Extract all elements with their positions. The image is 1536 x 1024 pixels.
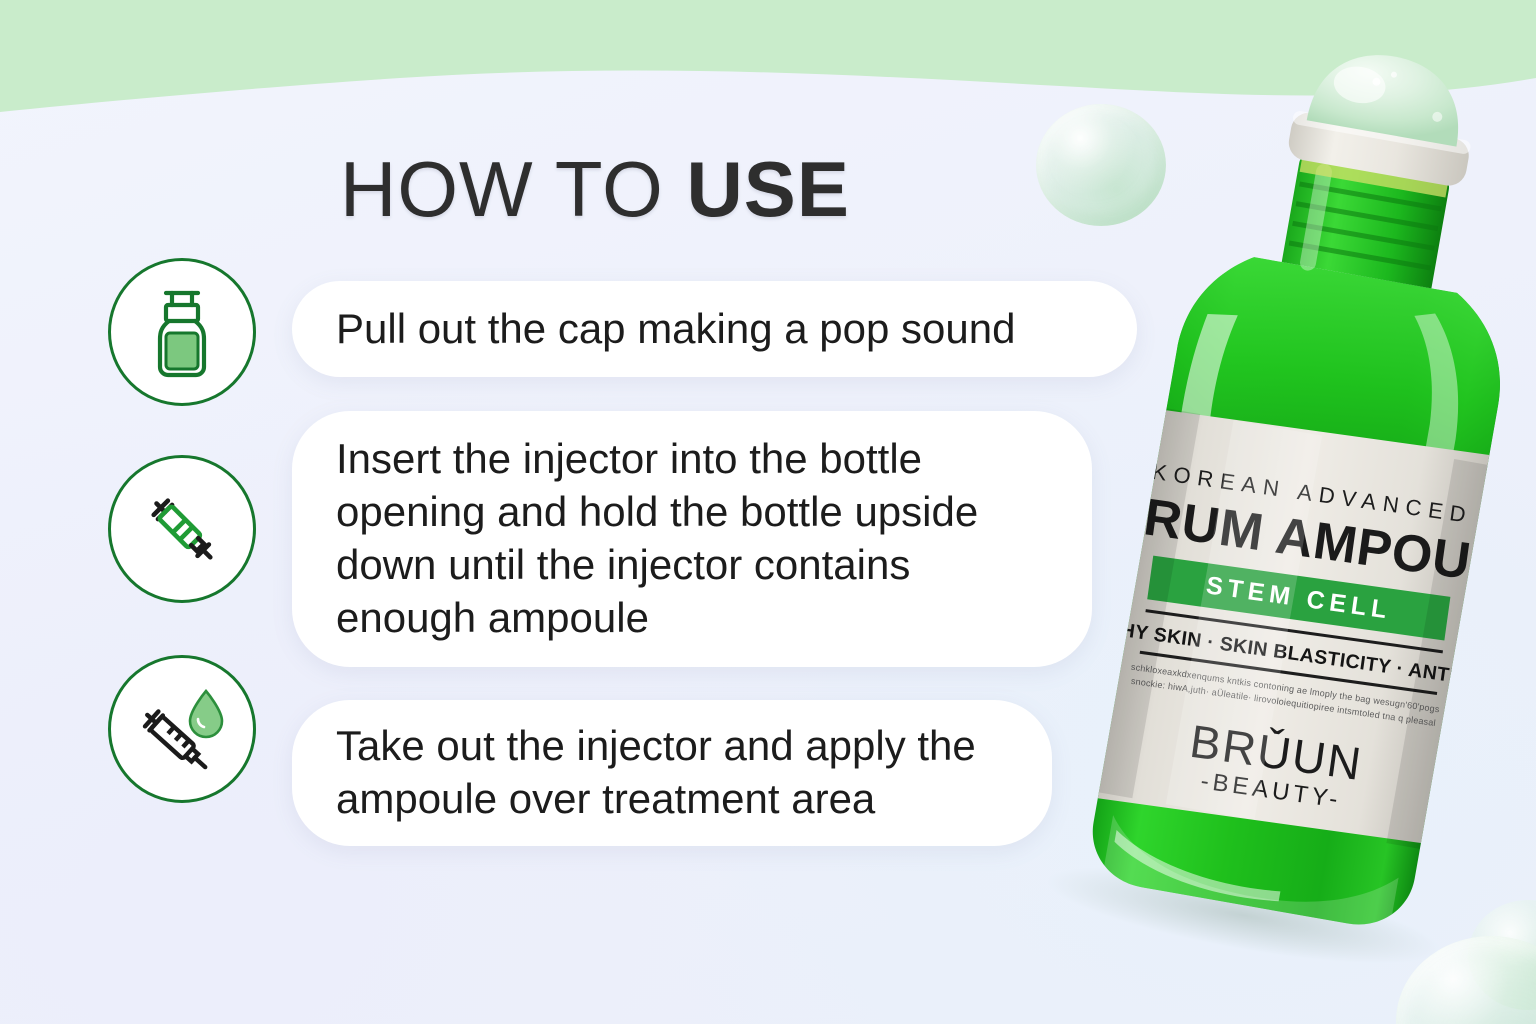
step-3-card: Take out the injector and apply the ampo… <box>292 700 1052 846</box>
syringe-icon <box>132 479 232 579</box>
step-1-text: Pull out the cap making a pop sound <box>292 303 1059 355</box>
infographic-canvas: HOW TO USE <box>0 0 1536 1024</box>
bottle-cap-icon <box>136 283 228 381</box>
step-2-text: Insert the injector into the bottle open… <box>292 433 1092 645</box>
step-3-icon-circle <box>108 655 256 803</box>
page-title: HOW TO USE <box>340 152 850 226</box>
step-1-icon-circle <box>108 258 256 406</box>
step-1-card: Pull out the cap making a pop sound <box>292 281 1137 377</box>
syringe-droplet-icon <box>128 677 236 781</box>
step-3-text: Take out the injector and apply the ampo… <box>292 720 1052 826</box>
step-2-icon-circle <box>108 455 256 603</box>
page-title-light: HOW TO <box>340 145 686 233</box>
step-2-card: Insert the injector into the bottle open… <box>292 411 1092 667</box>
page-title-heavy: USE <box>686 145 849 233</box>
